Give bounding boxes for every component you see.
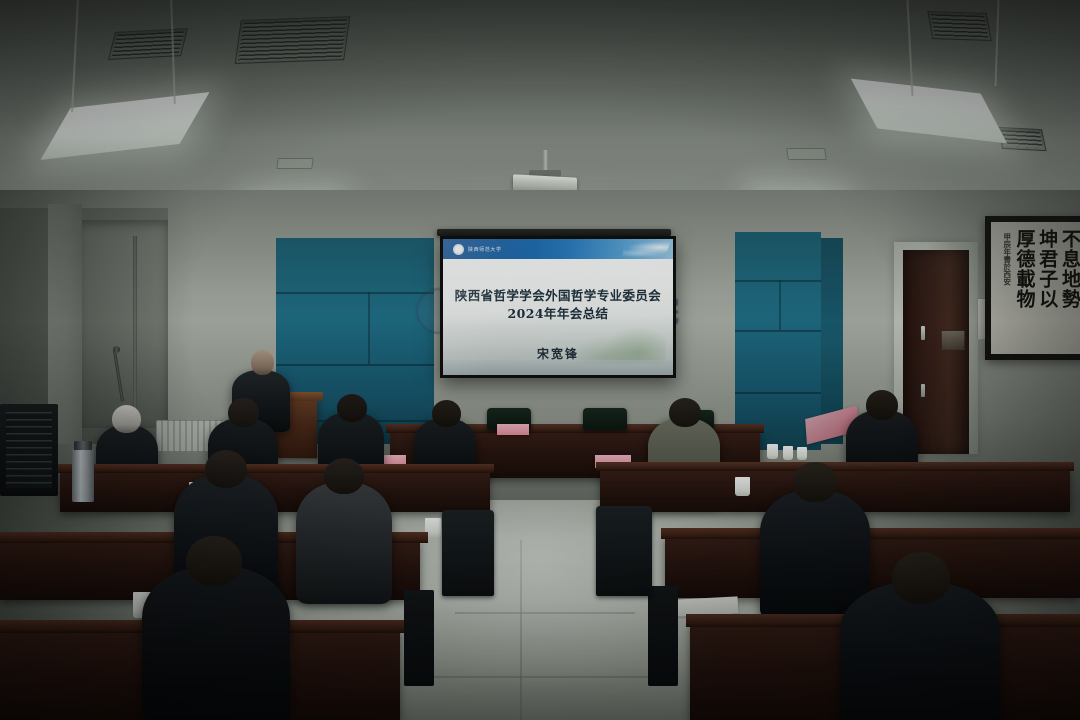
slide-footer-band (443, 360, 673, 375)
audience-head (337, 394, 367, 422)
audience-head (866, 390, 898, 420)
audience-member (296, 482, 392, 604)
thermos-cap (74, 441, 92, 450)
audience-head (432, 400, 461, 427)
audience-head (228, 398, 259, 427)
audience-head (324, 458, 364, 494)
chair-back (442, 510, 494, 596)
thermos-flask (72, 448, 94, 502)
chair-back (583, 408, 627, 430)
audience-head (793, 462, 837, 502)
slide-header-bar: 陕西师范大学 (443, 239, 673, 259)
audience-member (142, 566, 290, 720)
slide-scenery-graphic (565, 310, 666, 364)
chair-seat (648, 586, 678, 686)
slide-title-line-1: 陕西省哲学学会外国哲学专业委员会 (455, 287, 661, 305)
audience-head (112, 405, 141, 433)
presenter-head (251, 350, 274, 375)
chair-seat (404, 590, 434, 686)
projection-screen[interactable]: 陕西师范大学 陕西省哲学学会外国哲学专业委员会 2024年年会总结 宋宽锋 (440, 236, 676, 378)
slide-swoosh-graphic (621, 241, 670, 257)
name-card (497, 424, 529, 435)
audience-desk-surface (661, 528, 1080, 539)
audience-head (205, 450, 247, 488)
paper-cup (735, 477, 750, 496)
paper-cup (767, 444, 778, 459)
conference-room-photo: 院 ity 不息地勢 坤君子以 厚德載物 甲辰年書於西安 (0, 0, 1080, 720)
paper-cup (783, 446, 793, 460)
audience-head (669, 398, 701, 427)
audience-desk-surface (596, 462, 1074, 471)
paper-cup (797, 447, 807, 460)
presentation-slide: 陕西师范大学 陕西省哲学学会外国哲学专业委员会 2024年年会总结 宋宽锋 (443, 239, 673, 375)
audience-head (186, 536, 242, 586)
av-equipment-rack (0, 404, 58, 496)
audience-desk-surface (56, 464, 494, 473)
projection-screen-casing (437, 229, 671, 236)
chair-back (596, 506, 652, 596)
av-rack-front-panel (6, 412, 52, 488)
audience-head (892, 552, 950, 604)
slide-institution-label: 陕西师范大学 (468, 246, 502, 253)
university-seal-icon (453, 244, 464, 255)
